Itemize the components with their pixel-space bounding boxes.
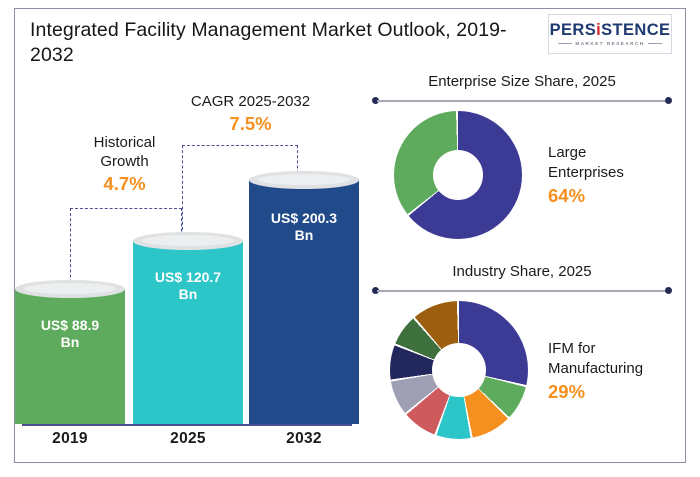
donut-enterprise-size[interactable] — [394, 111, 522, 239]
bar-2032-value-line2: Bn — [295, 227, 314, 243]
bar-2025-value-line2: Bn — [179, 286, 198, 302]
bar-2019-value-line1: US$ 88.9 — [41, 317, 99, 333]
legend-ifm-manufacturing-pct: 29% — [548, 380, 678, 404]
legend-large-enterprises-pct: 64% — [548, 184, 668, 208]
donut-enterprise-wrap: Large Enterprises 64% — [372, 105, 672, 235]
bar-2032-cap-highlight — [258, 174, 350, 185]
panel-industry-divider — [372, 287, 672, 295]
bar-2032-value-line1: US$ 200.3 — [271, 210, 337, 226]
logo-wordmark: PERSiSTENCE — [550, 22, 671, 39]
panel-industry-title: Industry Share, 2025 — [372, 262, 672, 282]
logo-word-post: STENCE — [601, 21, 670, 39]
legend-large-enterprises: Large Enterprises 64% — [548, 143, 668, 208]
divider-line — [377, 100, 667, 102]
panel-enterprise-size-share: Enterprise Size Share, 2025 Large Enterp… — [372, 72, 672, 235]
bar-2025-value: US$ 120.7 Bn — [133, 269, 243, 303]
bar-xlabel-2025: 2025 — [133, 430, 243, 448]
donut-industry-hole — [432, 343, 486, 397]
annotation-cagr-value: 7.5% — [168, 112, 333, 136]
logo-rule-right-icon — [648, 43, 662, 44]
panel-industry-share: Industry Share, 2025 IFM for Manufacturi… — [372, 262, 672, 435]
annotation-cagr: CAGR 2025-2032 7.5% — [168, 92, 333, 136]
legend-large-enterprises-line1: Large — [548, 143, 668, 163]
legend-ifm-manufacturing: IFM for Manufacturing 29% — [548, 339, 678, 404]
bar-xlabel-2032: 2032 — [249, 430, 359, 448]
logo-rule-left-icon — [558, 43, 572, 44]
donut-industry-wrap: IFM for Manufacturing 29% — [372, 295, 672, 435]
legend-ifm-manufacturing-line2: Manufacturing — [548, 359, 678, 379]
bar-xlabel-2019: 2019 — [15, 430, 125, 448]
infographic-root: Integrated Facility Management Market Ou… — [0, 0, 700, 477]
bar-2019-cap-highlight — [24, 283, 116, 294]
annotation-historical-caption-1: Historical — [62, 133, 187, 152]
logo-tagline: MARKET RESEARCH — [575, 41, 644, 46]
annotation-cagr-caption: CAGR 2025-2032 — [168, 92, 333, 111]
bar-2025[interactable]: US$ 120.7 Bn — [133, 241, 243, 424]
bar-2019-value-line2: Bn — [61, 334, 80, 350]
logo-persistence-market-research: PERSiSTENCE MARKET RESEARCH — [548, 14, 672, 54]
bar-2019[interactable]: US$ 88.9 Bn — [15, 289, 125, 424]
bar-2019-value: US$ 88.9 Bn — [15, 317, 125, 351]
divider-line — [377, 290, 667, 292]
logo-tagline-row: MARKET RESEARCH — [558, 41, 661, 46]
bar-2032[interactable]: US$ 200.3 Bn — [249, 180, 359, 424]
annotation-historical: Historical Growth 4.7% — [62, 133, 187, 196]
panel-enterprise-title: Enterprise Size Share, 2025 — [372, 72, 672, 92]
bar-2025-value-line1: US$ 120.7 — [155, 269, 221, 285]
annotation-historical-value: 4.7% — [62, 172, 187, 196]
bracket-top-line — [182, 145, 298, 146]
divider-dot-right-icon — [665, 97, 672, 104]
panel-enterprise-divider — [372, 97, 672, 105]
bar-2032-value: US$ 200.3 Bn — [249, 210, 359, 244]
donut-enterprise-hole — [433, 150, 483, 200]
bar-2025-cap-highlight — [142, 235, 234, 246]
bar-chart: CAGR 2025-2032 7.5% Historical Growth 4.… — [0, 0, 360, 477]
donut-industry-share[interactable] — [390, 301, 528, 439]
bar-chart-baseline — [22, 424, 352, 426]
divider-dot-right-icon — [665, 287, 672, 294]
legend-ifm-manufacturing-line1: IFM for — [548, 339, 678, 359]
annotation-historical-caption-2: Growth — [62, 152, 187, 171]
legend-large-enterprises-line2: Enterprises — [548, 163, 668, 183]
logo-word-pre: PERS — [550, 21, 597, 39]
bar-2019-body — [15, 289, 125, 424]
bracket-top-line — [70, 208, 182, 209]
